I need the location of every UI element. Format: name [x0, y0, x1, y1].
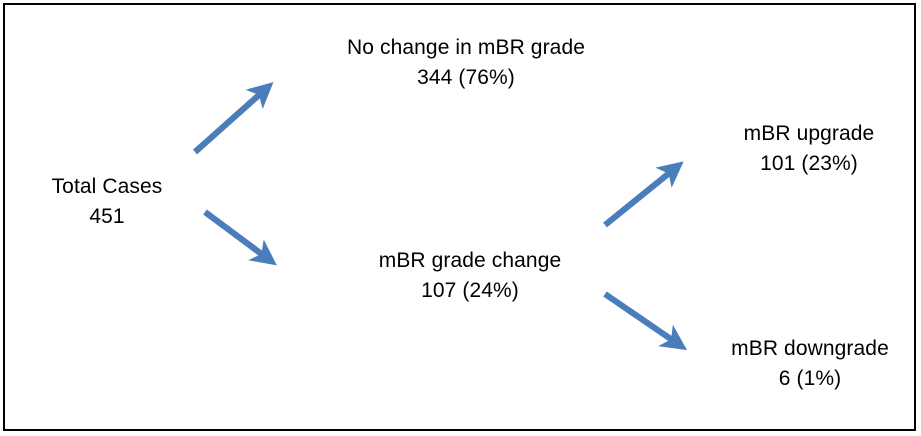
node-grade-change-label: mBR grade change — [379, 246, 562, 276]
edge-grade-change-to-upgrade — [605, 166, 678, 225]
edge-total-to-grade-change — [205, 212, 271, 261]
flowchart-canvas: Total Cases 451 No change in mBR grade 3… — [0, 0, 921, 436]
node-downgrade: mBR downgrade 6 (1%) — [731, 334, 889, 394]
node-grade-change: mBR grade change 107 (24%) — [379, 246, 562, 306]
node-no-change-label: No change in mBR grade — [347, 33, 585, 63]
node-no-change-value: 344 (76%) — [347, 63, 585, 93]
edge-total-to-no-change — [195, 87, 268, 152]
node-no-change: No change in mBR grade 344 (76%) — [347, 33, 585, 93]
node-total-cases: Total Cases 451 — [52, 172, 163, 232]
node-downgrade-label: mBR downgrade — [731, 334, 889, 364]
edge-grade-change-to-downgrade — [605, 294, 681, 346]
node-downgrade-value: 6 (1%) — [731, 364, 889, 394]
node-upgrade-value: 101 (23%) — [744, 149, 875, 179]
node-grade-change-value: 107 (24%) — [379, 276, 562, 306]
node-total-cases-value: 451 — [52, 202, 163, 232]
node-total-cases-label: Total Cases — [52, 172, 163, 202]
node-upgrade: mBR upgrade 101 (23%) — [744, 119, 875, 179]
node-upgrade-label: mBR upgrade — [744, 119, 875, 149]
